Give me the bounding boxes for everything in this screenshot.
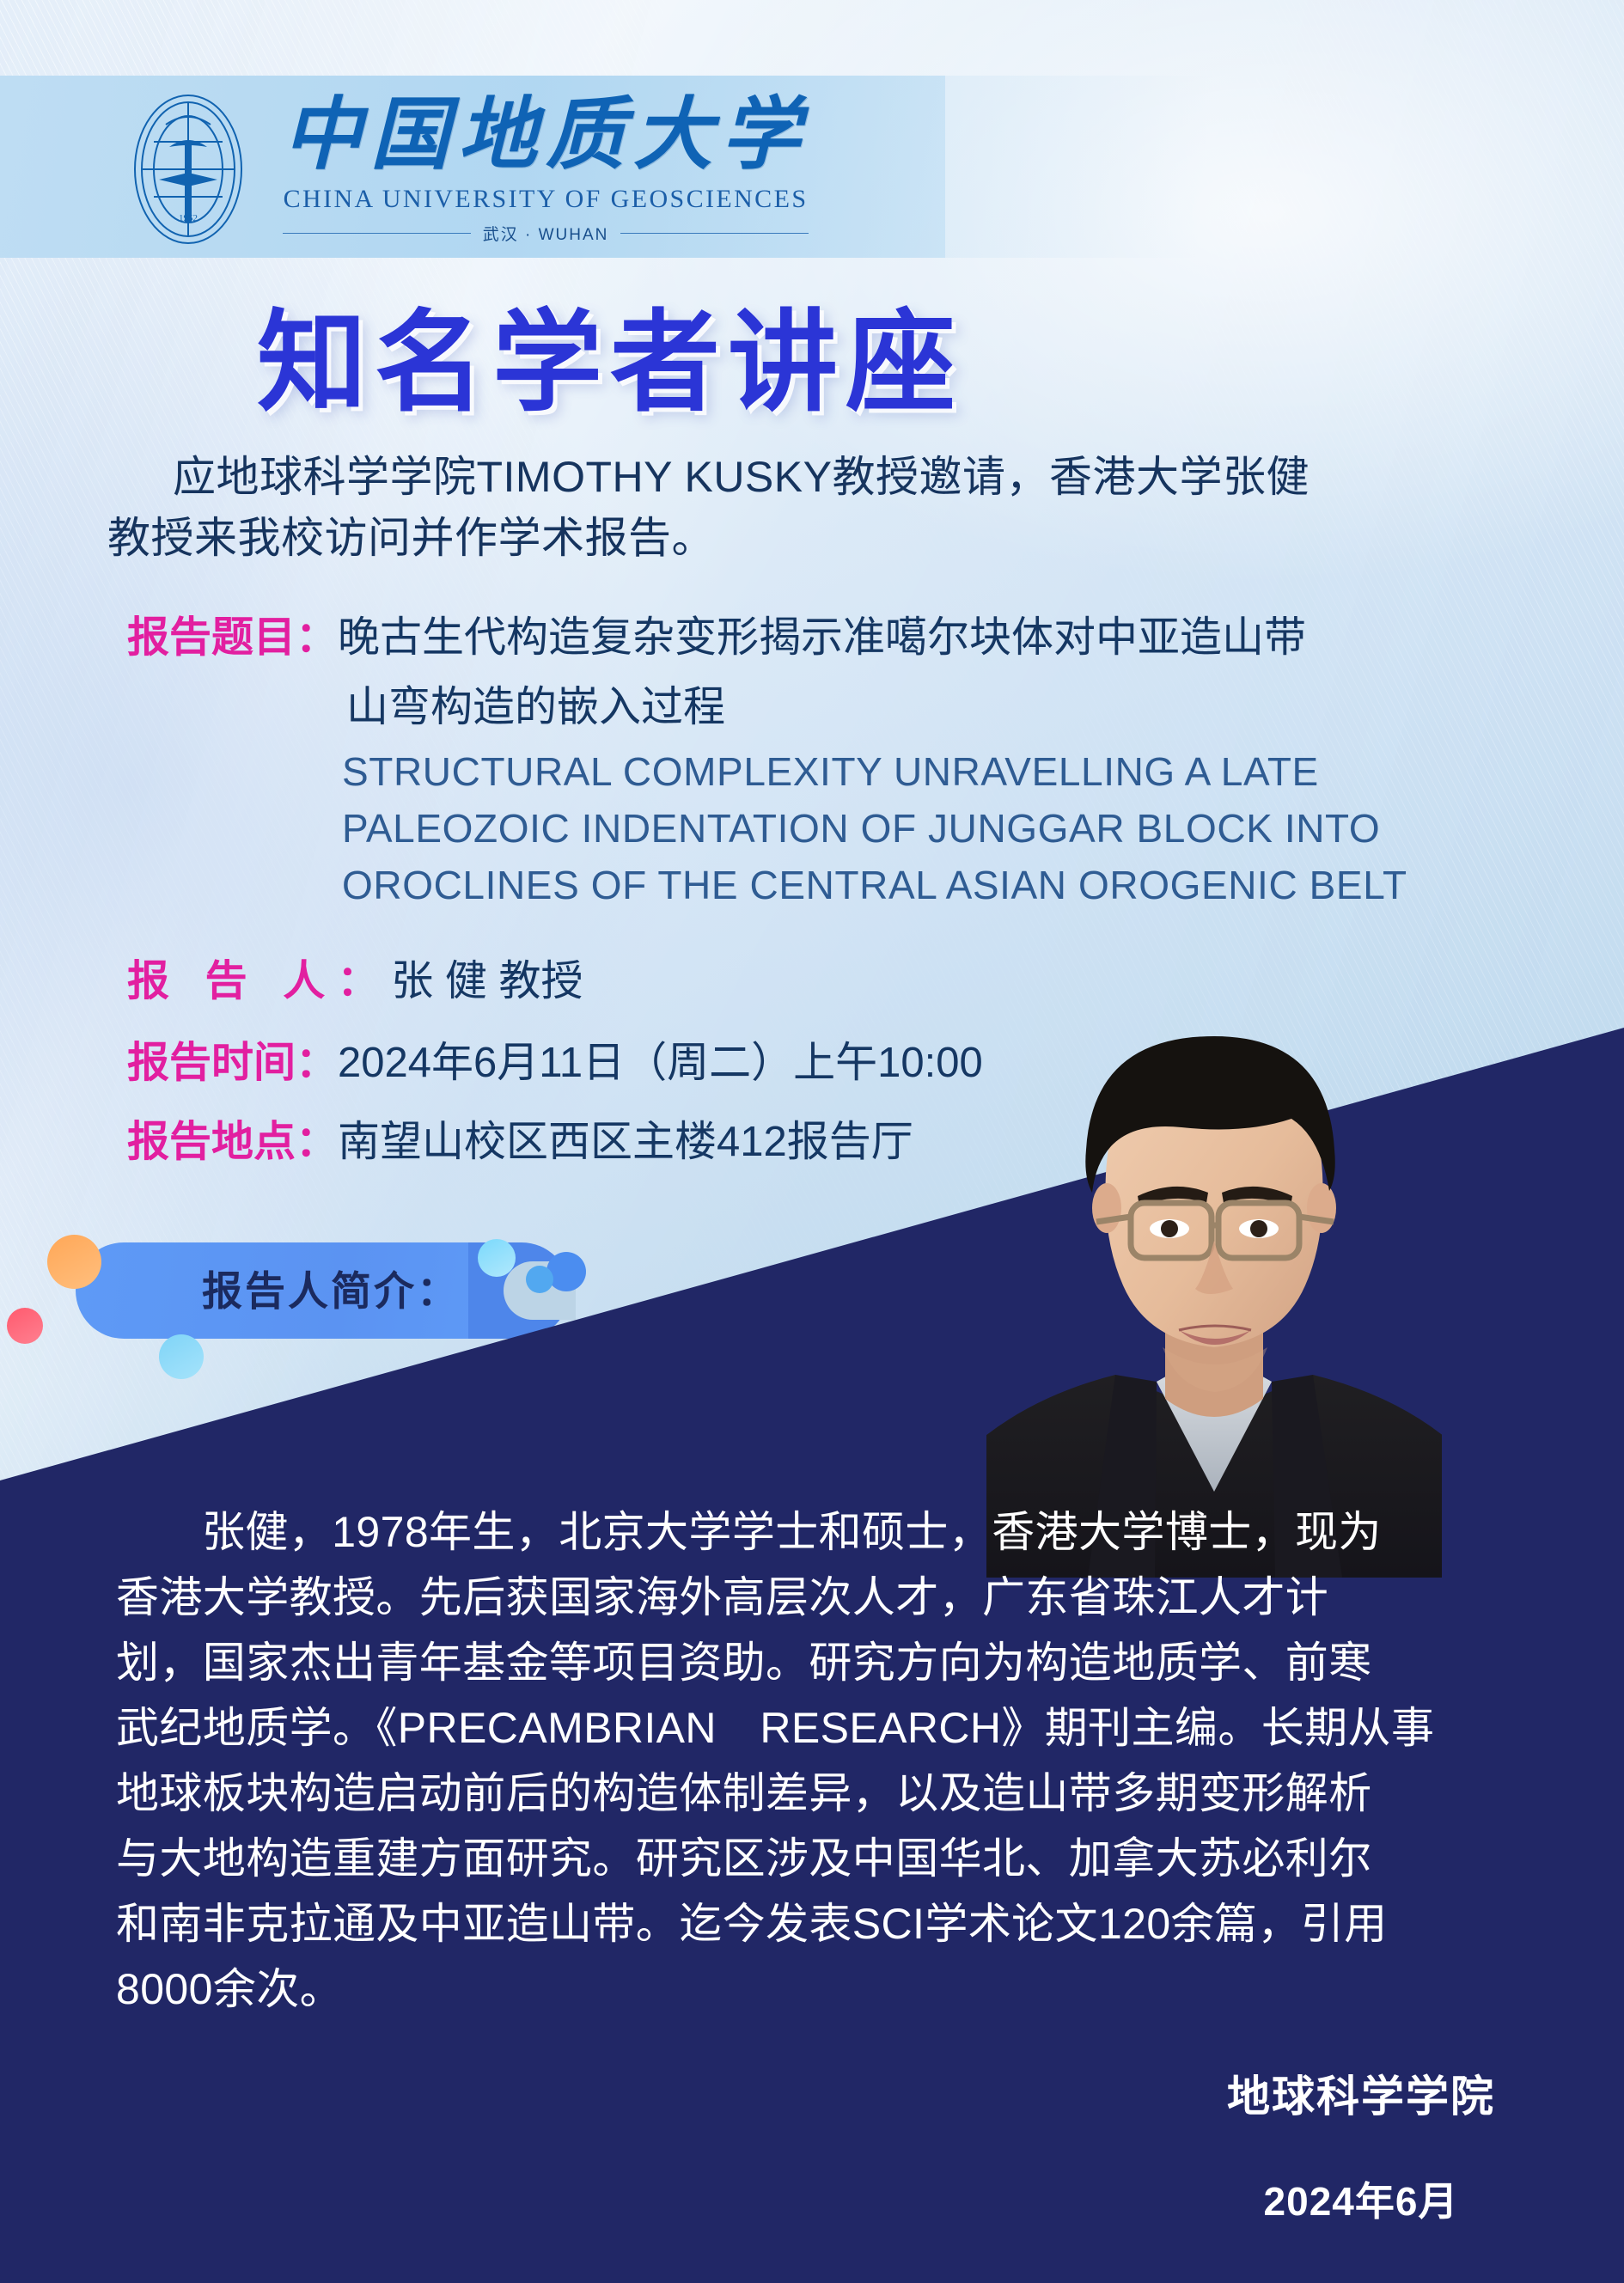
topic-en-line-3: OROCLINES OF THE CENTRAL ASIAN OROGENIC … xyxy=(342,857,1545,913)
university-seal-icon: 1952 xyxy=(116,90,260,249)
footer-organization: 地球科学学院 xyxy=(1227,2062,1495,2124)
place-value: 南望山校区西区主楼412报告厅 xyxy=(338,1119,913,1165)
decor-dot-blue-large-icon xyxy=(546,1252,586,1291)
logo-city-rule: 武汉 · WUHAN xyxy=(283,222,809,245)
speaker-label: 报 告 人： xyxy=(127,958,391,1004)
topic-row: 报告题目：晚古生代构造复杂变形揭示准噶尔块体对中亚造山带 xyxy=(127,608,1519,668)
decor-dot-blue-small-icon xyxy=(526,1266,553,1293)
footer-date: 2024年6月 xyxy=(1227,2170,1495,2227)
bio-line-2: 香港大学教授。先后获国家海外高层次人才，广东省珠江人才计 xyxy=(116,1573,1328,1621)
bio-line-4: 武纪地质学。《PRECAMBRIAN RESEARCH》期刊主编。长期从事 xyxy=(116,1704,1434,1752)
time-label: 报告时间： xyxy=(127,1040,338,1086)
rule-right xyxy=(620,233,809,234)
university-logo: 1952 中国地质大学 CHINA UNIVERSITY OF GEOSCIEN… xyxy=(116,90,809,249)
decor-dot-red-icon xyxy=(7,1308,43,1344)
university-name-en: CHINA UNIVERSITY OF GEOSCIENCES xyxy=(284,185,809,214)
intro-paragraph: 应地球科学学院TIMOTHY KUSKY教授邀请，香港大学张健 教授来我校访问并… xyxy=(107,447,1448,569)
place-row: 报告地点：南望山校区西区主楼412报告厅 xyxy=(127,1117,913,1169)
bio-line-3: 划，国家杰出青年基金等项目资助。研究方向为构造地质学、前寒 xyxy=(116,1639,1372,1687)
university-name-cn: 中国地质大学 xyxy=(283,95,809,174)
university-city: 武汉 · WUHAN xyxy=(483,222,609,245)
bio-line-6: 与大地构造重建方面研究。研究区涉及中国华北、加拿大苏必利尔 xyxy=(116,1834,1372,1883)
intro-line-1: 应地球科学学院TIMOTHY KUSKY教授邀请，香港大学张健 xyxy=(173,453,1310,501)
bio-line-1: 张健，1978年生，北京大学学士和硕士，香港大学博士，现为 xyxy=(202,1508,1382,1556)
place-label: 报告地点： xyxy=(127,1119,338,1165)
time-row: 报告时间：2024年6月11日（周二）上午10:00 xyxy=(127,1038,983,1090)
topic-label: 报告题目： xyxy=(127,614,338,661)
speaker-value: 张 健 教授 xyxy=(391,958,583,1004)
time-value: 2024年6月11日（周二）上午10:00 xyxy=(338,1040,983,1086)
svg-text:1952: 1952 xyxy=(179,213,198,223)
footer: 地球科学学院 2024年6月 xyxy=(1227,2062,1495,2227)
university-logo-text: 中国地质大学 CHINA UNIVERSITY OF GEOSCIENCES 武… xyxy=(283,95,809,245)
decor-dot-orange-icon xyxy=(47,1235,101,1289)
topic-en: STRUCTURAL COMPLEXITY UNRAVELLING A LATE… xyxy=(342,743,1545,914)
poster-main-title: 知名学者讲座 xyxy=(0,273,1220,432)
speaker-row: 报 告 人：张 健 教授 xyxy=(127,956,583,1008)
speaker-photo xyxy=(986,1010,1442,1578)
intro-line-2: 教授来我校访问并作学术报告。 xyxy=(107,514,715,562)
bio-line-5: 地球板块构造启动前后的构造体制差异，以及造山带多期变形解析 xyxy=(116,1769,1372,1817)
bio-paragraph: 张健，1978年生，北京大学学士和硕士，香港大学博士，现为 香港大学教授。先后获… xyxy=(116,1499,1512,2022)
topic-en-line-2: PALEOZOIC INDENTATION OF JUNGGAR BLOCK I… xyxy=(342,800,1545,857)
decor-dot-cyan-small-icon xyxy=(159,1334,204,1379)
bio-line-7: 和南非克拉通及中亚造山带。迄今发表SCI学术论文120余篇，引用 xyxy=(116,1900,1388,1948)
rule-left xyxy=(283,233,471,234)
topic-en-line-1: STRUCTURAL COMPLEXITY UNRAVELLING A LATE xyxy=(342,743,1545,800)
topic-cn-line-2: 山弯构造的嵌入过程 xyxy=(346,673,725,734)
bio-line-8: 8000余次。 xyxy=(116,1965,343,2013)
bio-banner-label: 报告人简介： xyxy=(129,1258,533,1317)
topic-cn-line-1: 晚古生代构造复杂变形揭示准噶尔块体对中亚造山带 xyxy=(338,614,1306,661)
poster-root: 1952 中国地质大学 CHINA UNIVERSITY OF GEOSCIEN… xyxy=(0,0,1624,2283)
decor-dot-cyan-top-icon xyxy=(478,1239,516,1277)
